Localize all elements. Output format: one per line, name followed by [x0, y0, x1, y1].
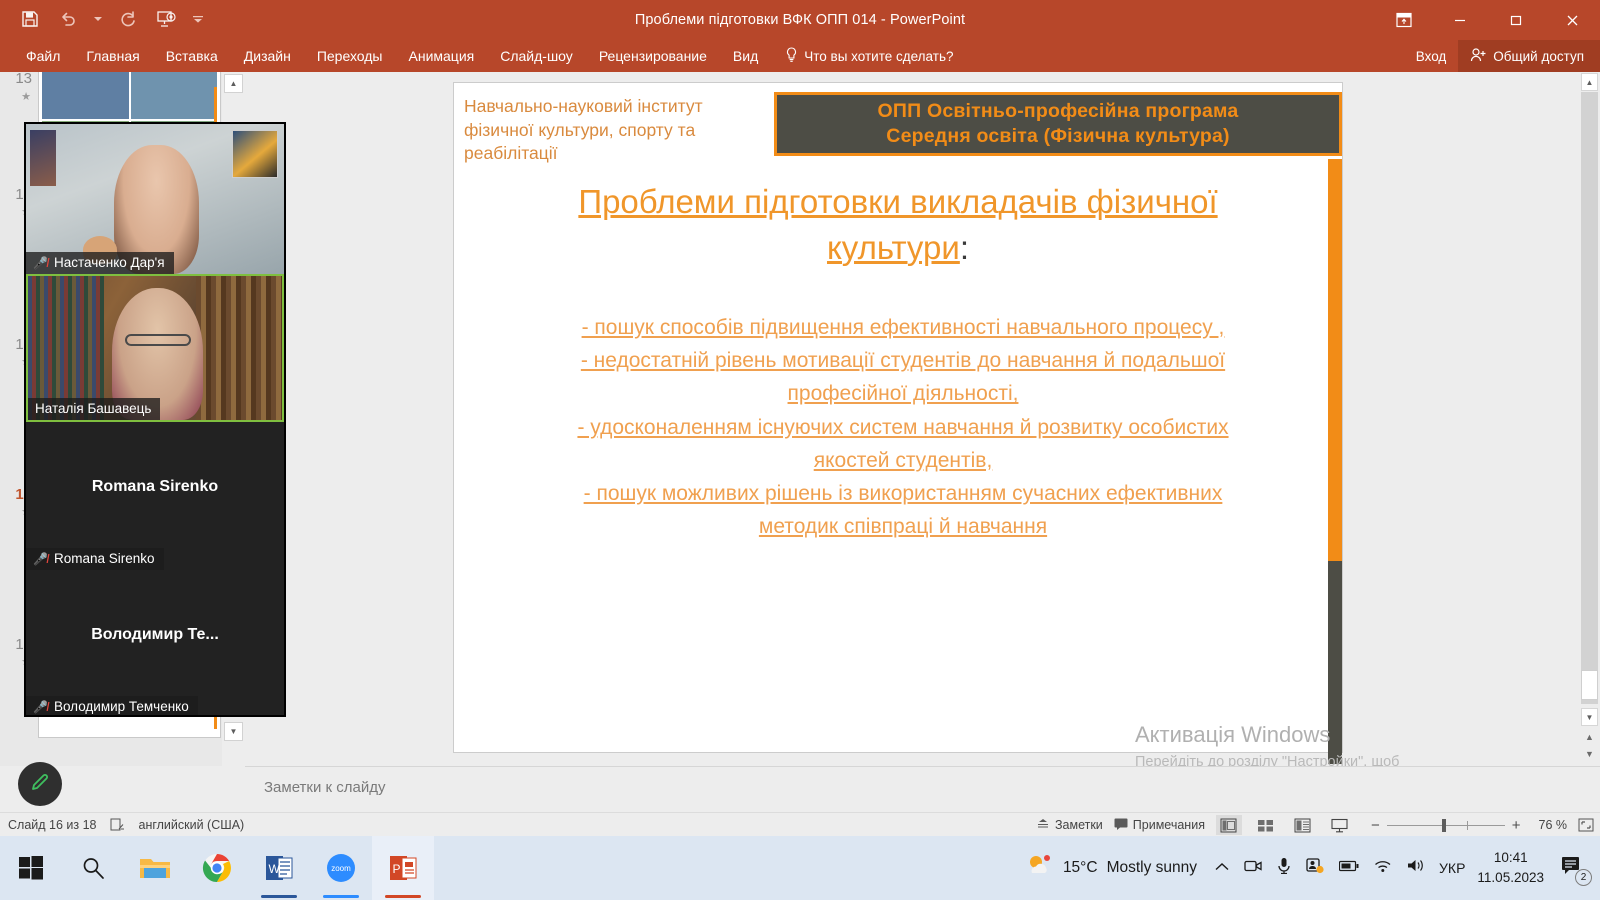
participant-name: Romana Sirenko — [54, 551, 155, 566]
participant-tile-no-video[interactable]: Romana Sirenko 🎤̸ Romana Sirenko — [26, 422, 284, 570]
background-cat-picture — [232, 130, 278, 178]
participant-name: Настаченко Дар'я — [54, 255, 165, 270]
taskbar-tray-area: 15°C Mostly sunny — [1026, 836, 1600, 900]
current-slide[interactable]: Навчально-науковий інститут фізичної кул… — [453, 82, 1343, 753]
mute-icon: 🎤̸ — [33, 256, 48, 270]
tell-me-box[interactable]: Что вы хотите сделать? — [771, 40, 953, 72]
participant-center-name: Romana Sirenko — [26, 478, 284, 496]
zoom-app-button[interactable]: zoom — [310, 836, 372, 900]
participant-name-tag: 🎤̸ Romana Sirenko — [26, 548, 164, 570]
slide-title-colon: : — [960, 229, 969, 266]
battery-icon[interactable] — [1339, 859, 1359, 877]
slide-header-box: ОПП Освітньо-професійна програма Середня… — [774, 92, 1342, 156]
participant-center-name: Володимир Те... — [26, 626, 284, 644]
slide-vertical-scrollbar[interactable]: ▲ ▼ ▲ ▼ — [1578, 72, 1600, 766]
search-button[interactable] — [62, 836, 124, 900]
zoom-track[interactable] — [1387, 825, 1505, 826]
clock-time: 10:41 — [1477, 848, 1544, 868]
zoom-slider[interactable]: − + — [1364, 817, 1528, 834]
list-item: - удосконаленням існуючих систем навчанн… — [559, 411, 1247, 477]
slide-header-box-line1: ОПП Освітньо-професійна програма — [878, 99, 1239, 124]
file-explorer-button[interactable] — [124, 836, 186, 900]
windows-taskbar: W zoom P 15°C Mostly sunny — [0, 836, 1600, 900]
previous-slide-icon[interactable]: ▲ — [1581, 728, 1598, 745]
mute-icon: 🎤̸ — [33, 700, 48, 714]
participant-name: Володимир Темченко — [54, 699, 189, 714]
ribbon-right-controls: Вход Общий доступ — [1404, 40, 1600, 72]
tab-review[interactable]: Рецензирование — [586, 40, 720, 72]
microphone-icon[interactable] — [1277, 857, 1291, 879]
title-bar: Проблеми підготовки ВФК ОПП 014 - PowerP… — [0, 0, 1600, 40]
notification-badge: 2 — [1575, 869, 1592, 886]
restore-icon[interactable] — [1488, 0, 1544, 40]
slide-sorter-icon[interactable] — [1253, 815, 1279, 835]
window-controls — [1376, 0, 1600, 40]
slide-canvas-area: Навчально-науковий інститут фізичної кул… — [245, 72, 1540, 766]
language-indicator[interactable]: английский (США) — [139, 818, 245, 832]
notes-pane[interactable]: Заметки к слайду — [245, 766, 1600, 812]
ribbon-tabs: Файл Главная Вставка Дизайн Переходы Ани… — [14, 40, 954, 72]
list-item: - недостатній рівень мотивації студентів… — [559, 344, 1247, 410]
scroll-up-icon[interactable]: ▲ — [224, 74, 243, 93]
scrollbar-track[interactable] — [1581, 92, 1598, 704]
mute-icon: 🎤̸ — [33, 552, 48, 566]
slide-accent-bar-orange — [1328, 159, 1342, 561]
background-wall-picture — [30, 130, 56, 186]
slide-header-box-line2: Середня освіта (Фізична культура) — [886, 124, 1229, 149]
scroll-up-icon[interactable]: ▲ — [1581, 73, 1598, 91]
participant-name-tag: Наталія Башавець — [28, 398, 160, 420]
status-bar-right: Заметки Примечания − — [1036, 813, 1594, 837]
animation-star-icon[interactable]: ★ — [8, 90, 38, 103]
start-button[interactable] — [0, 836, 62, 900]
tab-insert[interactable]: Вставка — [153, 40, 231, 72]
clock[interactable]: 10:41 11.05.2023 — [1477, 848, 1560, 887]
lightbulb-icon — [785, 47, 798, 66]
notes-icon — [1036, 818, 1050, 833]
tab-transitions[interactable]: Переходы — [304, 40, 396, 72]
tab-file[interactable]: Файл — [14, 40, 73, 72]
reading-view-icon[interactable] — [1290, 815, 1316, 835]
volume-icon[interactable] — [1407, 858, 1425, 878]
tab-animations[interactable]: Анимация — [396, 40, 488, 72]
svg-text:W: W — [269, 862, 281, 876]
background-bookshelf-right — [196, 276, 282, 420]
accessibility-check-icon[interactable] — [110, 818, 126, 832]
annotation-pen-button[interactable] — [18, 762, 62, 806]
tab-view[interactable]: Вид — [720, 40, 771, 72]
ribbon-display-options-icon[interactable] — [1376, 0, 1432, 40]
teams-icon[interactable] — [1306, 857, 1324, 879]
network-icon[interactable] — [1374, 859, 1392, 878]
slide-title-text: Проблеми підготовки викладачів фізичної … — [578, 183, 1217, 266]
notes-label: Заметки — [1055, 818, 1103, 832]
slide-accent-bar-dark — [1328, 561, 1342, 764]
zoom-meeting-panel[interactable]: 🎤̸ Настаченко Дар'я Наталія Башавець Rom… — [24, 122, 286, 717]
zoom-handle[interactable] — [1442, 819, 1446, 832]
weather-widget[interactable]: 15°C Mostly sunny — [1026, 853, 1215, 884]
scrollbar-thumb[interactable] — [1581, 670, 1598, 700]
close-icon[interactable] — [1544, 0, 1600, 40]
share-button[interactable]: Общий доступ — [1458, 40, 1600, 72]
participant-video-tile[interactable]: 🎤̸ Настаченко Дар'я — [26, 124, 284, 274]
slideshow-icon[interactable] — [1327, 815, 1353, 835]
status-bar: Слайд 16 из 18 английский (США) Заметки … — [0, 812, 1600, 836]
fit-to-window-icon[interactable] — [1578, 818, 1594, 832]
list-item: - пошук способів підвищення ефективності… — [559, 311, 1247, 344]
weather-condition: Mostly sunny — [1107, 859, 1197, 877]
notification-center-button[interactable]: 2 — [1560, 855, 1600, 882]
status-bar-left: Слайд 16 из 18 английский (США) — [8, 813, 244, 837]
ribbon-tab-bar: Файл Главная Вставка Дизайн Переходы Ани… — [0, 40, 1600, 72]
scroll-down-icon[interactable]: ▼ — [1581, 708, 1598, 726]
tab-design[interactable]: Дизайн — [231, 40, 304, 72]
word-button[interactable]: W — [248, 836, 310, 900]
chrome-button[interactable] — [186, 836, 248, 900]
normal-view-icon[interactable] — [1216, 815, 1242, 835]
share-label: Общий доступ — [1493, 49, 1584, 64]
zoom-level-label[interactable]: 76 % — [1539, 818, 1568, 832]
share-person-icon — [1470, 47, 1487, 66]
svg-text:zoom: zoom — [331, 864, 351, 873]
minimize-icon[interactable] — [1432, 0, 1488, 40]
camera-icon[interactable] — [1244, 858, 1262, 879]
tab-home[interactable]: Главная — [73, 40, 152, 72]
comments-button[interactable]: Примечания — [1114, 818, 1205, 833]
weather-sun-icon — [1026, 853, 1054, 884]
zoom-in-button[interactable]: + — [1505, 817, 1528, 834]
zoom-midpoint — [1467, 821, 1468, 830]
pen-icon — [29, 771, 51, 798]
comments-label: Примечания — [1133, 818, 1205, 832]
tab-slideshow[interactable]: Слайд-шоу — [487, 40, 586, 72]
taskbar-apps: W zoom P — [0, 836, 434, 900]
language-indicator[interactable]: УКР — [1439, 860, 1477, 876]
window-title: Проблеми підготовки ВФК ОПП 014 - PowerP… — [0, 0, 1600, 40]
participant-name-tag: 🎤̸ Володимир Темченко — [26, 696, 198, 717]
notes-button[interactable]: Заметки — [1036, 818, 1103, 833]
notes-placeholder: Заметки к слайду — [264, 779, 386, 796]
powerpoint-button[interactable]: P — [372, 836, 434, 900]
participant-glasses — [125, 334, 191, 346]
clock-date: 11.05.2023 — [1477, 868, 1544, 888]
participant-name-tag: 🎤̸ Настаченко Дар'я — [26, 252, 174, 274]
sign-in-button[interactable]: Вход — [1404, 49, 1459, 64]
tell-me-label: Что вы хотите сделать? — [804, 49, 953, 64]
comment-icon — [1114, 818, 1128, 833]
svg-text:P: P — [393, 862, 401, 876]
slide-header-left: Навчально-науковий інститут фізичної кул… — [464, 95, 744, 166]
participant-video-tile-active-speaker[interactable]: Наталія Башавець — [26, 274, 284, 422]
powerpoint-window: Проблеми підготовки ВФК ОПП 014 - PowerP… — [0, 0, 1600, 900]
participant-name: Наталія Башавець — [35, 401, 151, 416]
weather-temperature: 15°C — [1063, 859, 1098, 877]
participant-tile-no-video[interactable]: Володимир Те... 🎤̸ Володимир Темченко — [26, 570, 284, 717]
next-slide-icon[interactable]: ▼ — [1581, 745, 1598, 762]
system-tray — [1215, 857, 1439, 879]
slide-title: Проблеми підготовки викладачів фізичної … — [504, 179, 1292, 270]
zoom-out-button[interactable]: − — [1364, 817, 1387, 834]
slide-bullet-list: - пошук способів підвищення ефективності… — [559, 311, 1247, 543]
show-hidden-icons-icon[interactable] — [1215, 859, 1229, 877]
list-item: - пошук можливих рішень із використанням… — [559, 477, 1247, 543]
scroll-down-icon[interactable]: ▼ — [224, 722, 243, 741]
slide-counter[interactable]: Слайд 16 из 18 — [8, 818, 97, 832]
